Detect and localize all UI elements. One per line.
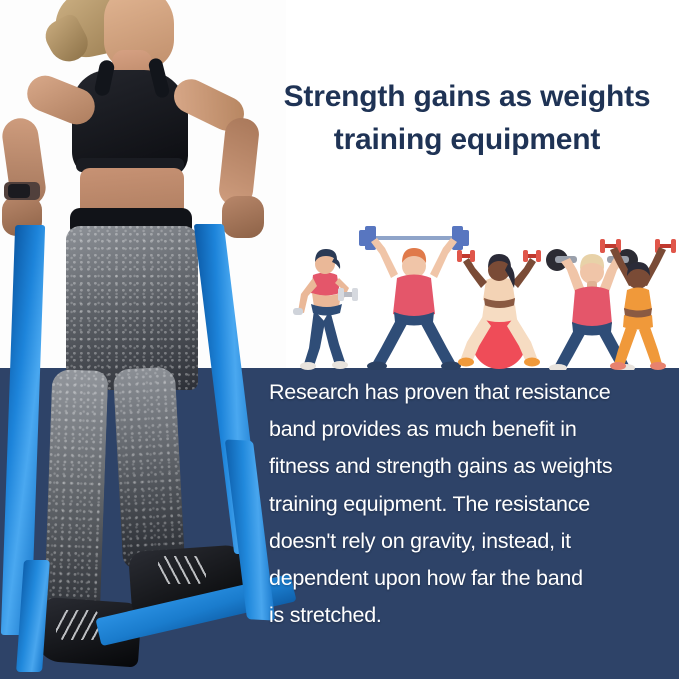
body-line-5: doesn't rely on gravity, instead, it xyxy=(269,523,673,560)
body-line-4: training equipment. The resistance xyxy=(269,486,673,523)
body-paragraph: Research has proven that resistance band… xyxy=(269,374,673,634)
infographic-root: Strength gains as weights training equip… xyxy=(0,0,679,679)
figure-woman-dumbbell-curl xyxy=(287,244,365,370)
model-right-fist xyxy=(222,196,264,238)
model-leggings xyxy=(66,226,198,390)
exercise-illustration-strip xyxy=(285,218,679,370)
body-line-2: band provides as much benefit in xyxy=(269,411,673,448)
figure-woman-arms-raised xyxy=(597,234,679,370)
figure-woman-exercise-ball xyxy=(453,238,545,370)
model-left-leg xyxy=(44,369,109,623)
body-line-3: fitness and strength gains as weights xyxy=(269,448,673,485)
model-smartwatch-face xyxy=(8,184,30,198)
page-title: Strength gains as weights training equip… xyxy=(262,76,672,161)
right-shoe-laces xyxy=(158,556,206,584)
body-line-7: is stretched. xyxy=(269,597,673,634)
model-right-leg xyxy=(113,367,185,570)
body-line-1: Research has proven that resistance xyxy=(269,374,673,411)
body-line-6: dependent upon how far the band xyxy=(269,560,673,597)
page-title-line-1: Strength gains as weights xyxy=(262,76,672,119)
page-title-line-2: training equipment xyxy=(262,119,672,162)
left-shoe-laces xyxy=(56,610,100,640)
